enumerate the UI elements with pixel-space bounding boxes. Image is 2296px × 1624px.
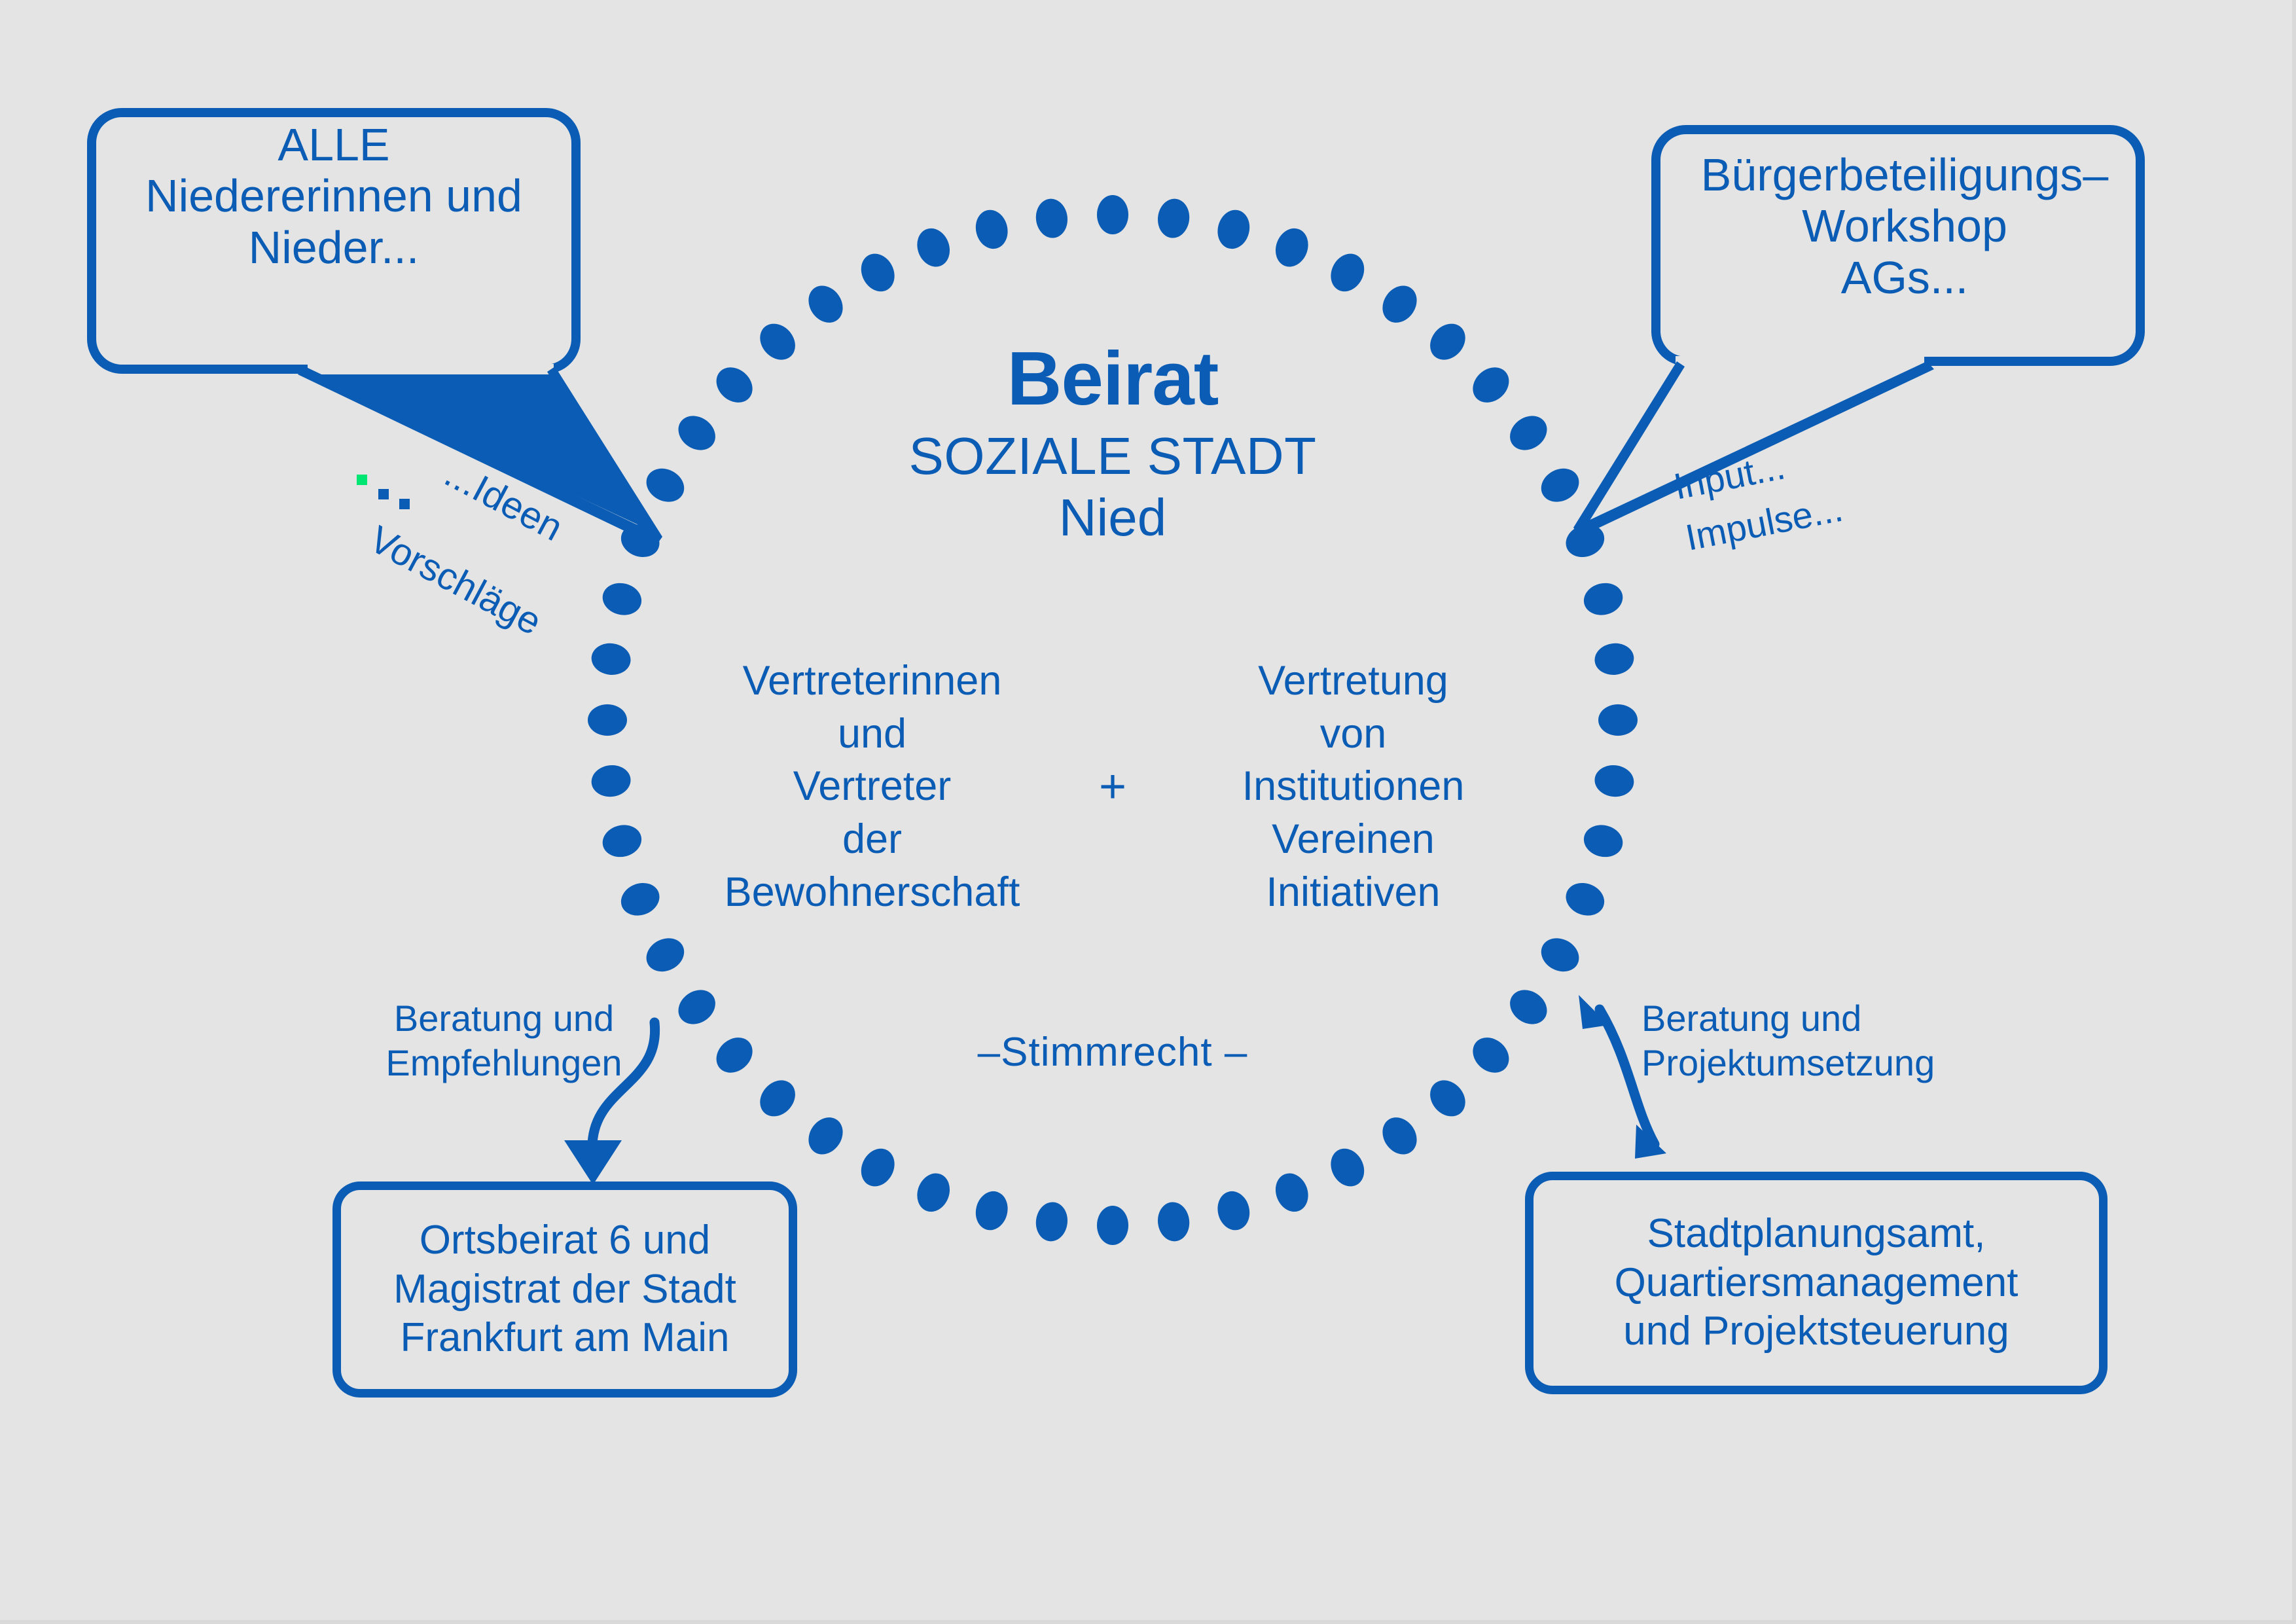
- ring-dot: [1213, 207, 1253, 253]
- members-column-right: Vertretung von Institutionen Vereinen In…: [1162, 655, 1545, 918]
- ortsbeirat-magistrat-box[interactable]: Ortsbeirat 6 und Magistrat der Stadt Fra…: [332, 1182, 797, 1398]
- ring-dot: [1593, 763, 1636, 799]
- ring-dot: [600, 579, 645, 619]
- annotation-vorschlaege: Vorschläge: [363, 517, 549, 644]
- ring-dot: [590, 763, 632, 799]
- plus-operator: +: [1064, 763, 1162, 810]
- ring-dot: [753, 1074, 802, 1124]
- ring-dot: [1561, 878, 1609, 921]
- ring-dot: [1033, 197, 1069, 240]
- ring-dot: [590, 641, 632, 677]
- ring-dot: [588, 704, 627, 736]
- annotation-ideen: ...Ideen: [438, 452, 570, 550]
- circle-members-columns: Vertreterinnen und Vertreter der Bewohne…: [681, 655, 1545, 918]
- ring-dot: [1270, 224, 1314, 272]
- ring-dot: [672, 983, 722, 1032]
- speech-bubble-left-label: ALLE Niedererinnen und Nieder...: [92, 119, 576, 273]
- ring-dot: [1581, 821, 1626, 861]
- ring-dot: [802, 1111, 850, 1161]
- ring-dot: [1325, 248, 1371, 297]
- core-subtitle-line1: SOZIALE STADT: [681, 425, 1545, 487]
- ring-dot: [1376, 279, 1424, 329]
- diagram-canvas: ALLE Niedererinnen und Nieder... Bürgerb…: [0, 0, 2296, 1624]
- ring-dot: [855, 248, 901, 297]
- ring-dot: [1581, 579, 1626, 619]
- ring-dot: [912, 224, 955, 272]
- ring-dot: [1325, 1143, 1371, 1192]
- core-title: Beirat: [681, 340, 1545, 416]
- ring-dot: [1097, 195, 1128, 234]
- ring-dot: [1156, 197, 1192, 240]
- ring-dot: [1561, 519, 1609, 562]
- label-beratung-empfehlungen: Beratung und Empfehlungen: [367, 996, 641, 1086]
- ring-dot: [617, 519, 664, 562]
- ring-dot: [600, 821, 645, 861]
- ring-dot: [1593, 641, 1636, 677]
- ring-dot: [641, 932, 690, 978]
- ring-dot: [1097, 1206, 1128, 1245]
- ring-dot: [1156, 1200, 1192, 1243]
- ring-dot: [617, 878, 664, 921]
- stimmrecht-note: –Stimmrecht –: [681, 1029, 1545, 1075]
- circle-core-heading: Beirat SOZIALE STADT Nied: [681, 340, 1545, 549]
- ring-dot: [972, 1188, 1012, 1234]
- ring-dot: [1213, 1188, 1253, 1234]
- ring-dot: [802, 279, 850, 329]
- ring-dot: [1535, 932, 1585, 978]
- ring-dot: [1503, 983, 1554, 1032]
- label-beratung-projektumsetzung: Beratung und Projektumsetzung: [1641, 996, 1982, 1086]
- ring-dot: [1598, 704, 1638, 736]
- ring-dot: [1270, 1168, 1314, 1216]
- ring-dot: [972, 207, 1012, 253]
- ring-dot: [1376, 1111, 1424, 1161]
- members-column-left: Vertreterinnen und Vertreter der Bewohne…: [681, 655, 1064, 918]
- ring-dot: [1033, 1200, 1069, 1243]
- ring-dot: [1423, 1074, 1473, 1124]
- ellipsis-artifact: [357, 475, 410, 509]
- ring-dot: [912, 1168, 955, 1216]
- core-subtitle-line2: Nied: [681, 487, 1545, 549]
- annotation-input: Input...: [1670, 444, 1788, 507]
- speech-bubble-right-label: Bürgerbeteiligungs– Workshop AGs...: [1676, 149, 2134, 303]
- ring-dot: [855, 1143, 901, 1192]
- stadtplanungsamt-box[interactable]: Stadtplanungsamt, Quartiersmanagement un…: [1525, 1172, 2108, 1394]
